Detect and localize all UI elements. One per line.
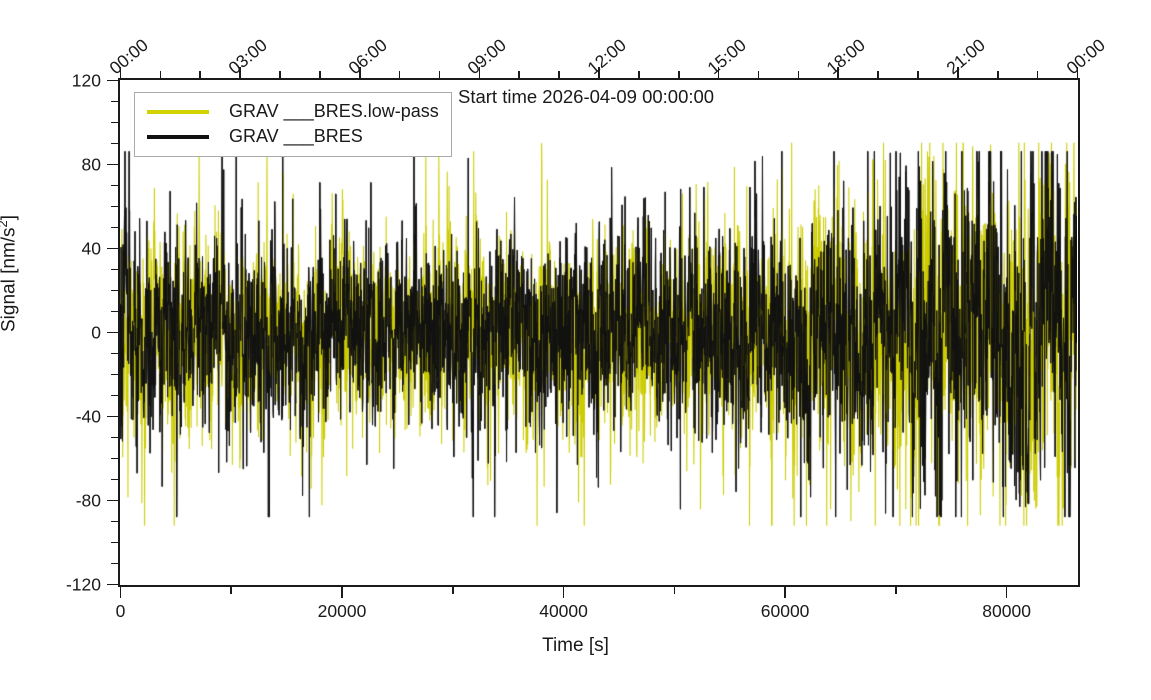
x-tick-label: 40000 <box>539 601 588 622</box>
y-major-tick <box>107 164 118 166</box>
x-tick-label: 60000 <box>761 601 810 622</box>
top-tick-label: 21:00 <box>942 35 989 79</box>
top-minor-tick <box>439 71 441 78</box>
x-major-tick <box>120 587 122 598</box>
x-major-tick <box>784 587 786 598</box>
y-tick-label: -80 <box>23 490 101 511</box>
legend-line-swatch-lowpass <box>147 110 209 114</box>
top-minor-tick <box>160 71 162 78</box>
top-minor-tick <box>997 71 999 78</box>
seismogram-figure: Start time 2026-04-09 00:00:00 Signal [n… <box>0 0 1151 700</box>
y-tick-label: 40 <box>23 238 101 259</box>
y-minor-tick <box>111 437 118 439</box>
y-minor-tick <box>111 143 118 145</box>
y-tick-label: -120 <box>23 574 101 595</box>
top-minor-tick <box>399 71 401 78</box>
y-tick-label: 0 <box>23 322 101 343</box>
top-minor-tick <box>558 71 560 78</box>
top-tick-label: 12:00 <box>584 35 631 79</box>
y-tick-label: 80 <box>23 154 101 175</box>
x-minor-tick <box>895 587 897 594</box>
top-minor-tick <box>279 71 281 78</box>
y-axis-title-tail: ] <box>0 215 19 220</box>
x-minor-tick <box>674 587 676 594</box>
y-minor-tick <box>111 269 118 271</box>
y-minor-tick <box>111 227 118 229</box>
y-major-tick <box>107 332 118 334</box>
top-minor-tick <box>678 71 680 78</box>
top-minor-tick <box>319 71 321 78</box>
y-axis-title-exponent: 2 <box>0 220 10 227</box>
y-minor-tick <box>111 101 118 103</box>
y-tick-label: 120 <box>23 70 101 91</box>
y-axis-title-base: Signal [nm/s <box>0 227 19 332</box>
x-axis-title: Time [s] <box>0 635 1151 657</box>
x-minor-tick <box>452 587 454 594</box>
top-minor-tick <box>518 71 520 78</box>
legend-item-lowpass[interactable]: GRAV ___BRES.low-pass <box>147 99 439 124</box>
x-major-tick <box>341 587 343 598</box>
legend-item-raw[interactable]: GRAV ___BRES <box>147 124 439 149</box>
y-major-tick <box>107 80 118 82</box>
y-minor-tick <box>111 353 118 355</box>
top-tick-label: 00:00 <box>105 35 152 79</box>
top-minor-tick <box>917 71 919 78</box>
legend-label-raw: GRAV ___BRES <box>229 126 363 147</box>
x-tick-label: 80000 <box>982 601 1031 622</box>
x-major-tick <box>1006 587 1008 598</box>
top-tick-label: 15:00 <box>703 35 750 79</box>
x-tick-label: 0 <box>116 601 126 622</box>
legend-label-lowpass: GRAV ___BRES.low-pass <box>229 101 439 122</box>
y-minor-tick <box>111 458 118 460</box>
legend-line-swatch-raw <box>147 135 209 139</box>
x-major-tick <box>563 587 565 598</box>
top-minor-tick <box>199 71 201 78</box>
y-axis-title: Signal [nm/s2] <box>0 215 20 332</box>
y-tick-label: -40 <box>23 406 101 427</box>
y-minor-tick <box>111 521 118 523</box>
top-minor-tick <box>877 71 879 78</box>
x-tick-label: 20000 <box>318 601 367 622</box>
top-minor-tick <box>758 71 760 78</box>
top-minor-tick <box>798 71 800 78</box>
top-tick-label: 06:00 <box>344 35 391 79</box>
y-minor-tick <box>111 311 118 313</box>
top-tick-label: 00:00 <box>1062 35 1109 79</box>
y-minor-tick <box>111 206 118 208</box>
y-major-tick <box>107 248 118 250</box>
y-major-tick <box>107 500 118 502</box>
y-minor-tick <box>111 290 118 292</box>
top-tick-label: 18:00 <box>823 35 870 79</box>
top-minor-tick <box>638 71 640 78</box>
top-tick-label: 09:00 <box>464 35 511 79</box>
y-minor-tick <box>111 185 118 187</box>
y-minor-tick <box>111 122 118 124</box>
top-minor-tick <box>1037 71 1039 78</box>
x-minor-tick <box>230 587 232 594</box>
y-major-tick <box>107 584 118 586</box>
y-major-tick <box>107 416 118 418</box>
legend: GRAV ___BRES.low-pass GRAV ___BRES <box>134 92 452 157</box>
top-tick-label: 03:00 <box>225 35 272 79</box>
y-minor-tick <box>111 374 118 376</box>
y-minor-tick <box>111 542 118 544</box>
y-minor-tick <box>111 395 118 397</box>
y-minor-tick <box>111 563 118 565</box>
y-minor-tick <box>111 479 118 481</box>
